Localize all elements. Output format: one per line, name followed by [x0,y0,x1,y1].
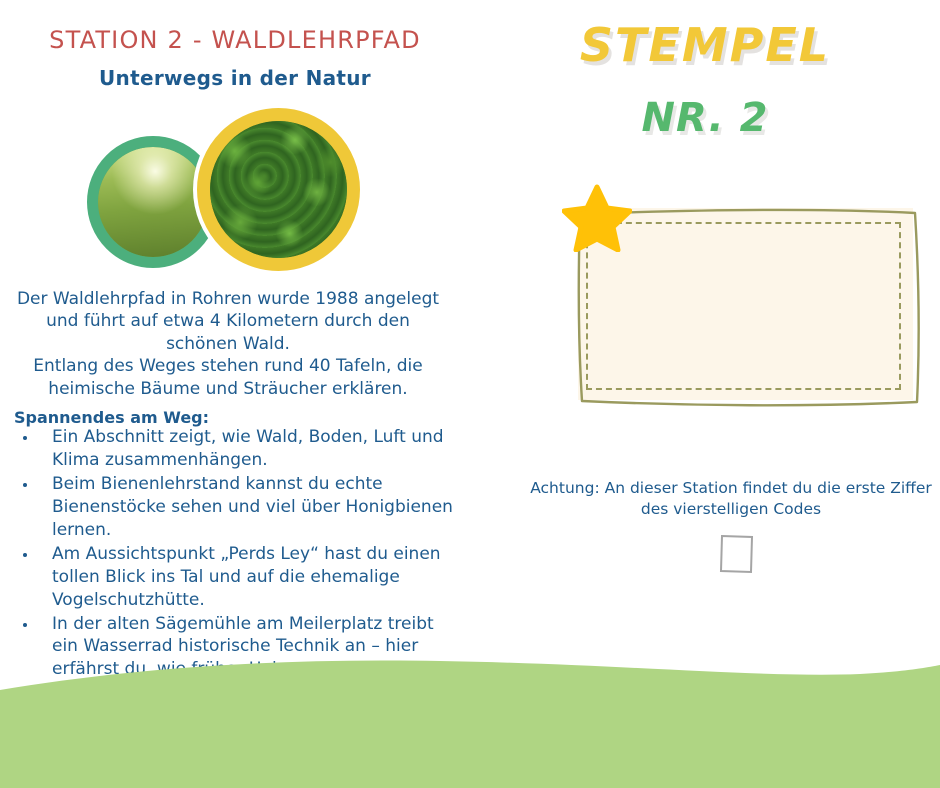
stamp-panel: STEMPEL NR. 2 Achtung: An dieser Station… [470,0,940,690]
forest-canopy-image [210,121,347,258]
list-item: Beim Bienenlehrstand kannst du echte Bie… [14,473,454,542]
list-item: Am Aussichtspunkt „Perds Ley“ hast du ei… [14,543,454,612]
list-item: In der alten Sägemühle am Meilerplatz tr… [14,613,454,682]
sunlit-forest-image [98,147,208,257]
stamp-heading-word: STEMPEL [470,18,940,72]
intro-line: Der Waldlehrpfad in Rohren wurde 1988 an… [14,288,442,310]
intro-line: und führt auf etwa 4 Kilometern durch de… [14,310,442,332]
page-subtitle: Unterwegs in der Natur [0,66,470,90]
list-item: Ein Abschnitt zeigt, wie Wald, Boden, Lu… [14,426,454,472]
intro-line: heimische Bäume und Sträucher erklären. [14,378,442,400]
station-info-panel: STATION 2 - WALDLEHRPFAD Unterwegs in de… [0,0,470,690]
stamp-field[interactable] [570,188,930,418]
intro-line: schönen Wald. [14,333,442,355]
photo-cluster [82,103,372,283]
note-line: des vierstelligen Codes [516,499,940,520]
page-title: STATION 2 - WALDLEHRPFAD [0,26,470,54]
star-icon [562,184,632,252]
stamp-dashed-area[interactable] [586,222,901,390]
code-digit-box[interactable] [718,532,756,576]
highlights-heading: Spannendes am Weg: [14,408,209,427]
intro-line: Entlang des Weges stehen rund 40 Tafeln,… [14,355,442,377]
note-line: Achtung: An dieser Station findet du die… [516,478,940,499]
intro-paragraph: Der Waldlehrpfad in Rohren wurde 1988 an… [14,288,442,400]
forest-canopy-photo [197,108,360,271]
stamp-heading-number: NR. 2 [470,95,940,141]
code-hint-note: Achtung: An dieser Station findet du die… [516,478,940,520]
highlights-list: Ein Abschnitt zeigt, wie Wald, Boden, Lu… [14,426,454,682]
